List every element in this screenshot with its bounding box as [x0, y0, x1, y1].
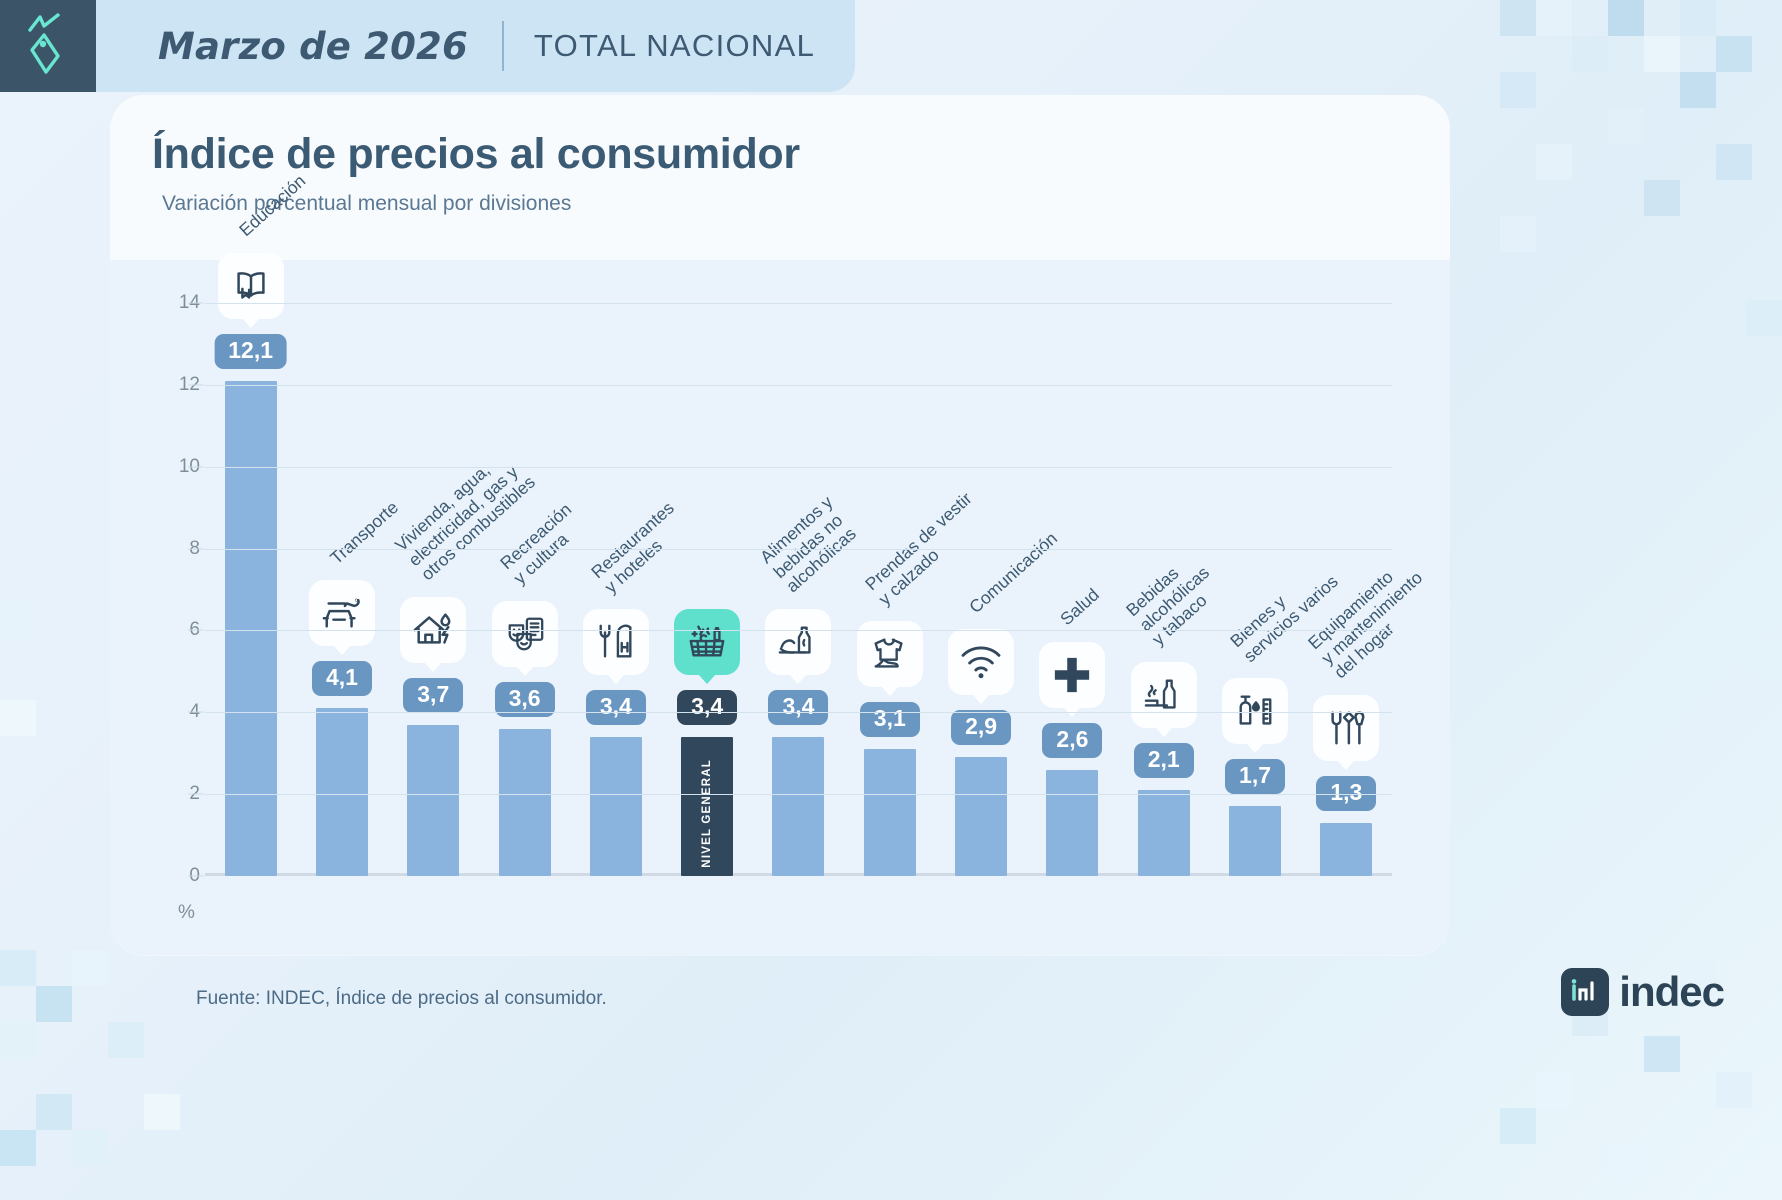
- bar-nivel-general[interactable]: NIVEL GENERAL: [681, 737, 733, 876]
- background-pixel: [1500, 1108, 1536, 1144]
- price-tag-icon: [24, 13, 72, 80]
- gridline: [205, 549, 1392, 550]
- background-pixel: [1644, 180, 1680, 216]
- y-axis-tick-mark: [188, 302, 204, 303]
- background-pixel: [72, 950, 108, 986]
- background-pixel: [1644, 36, 1680, 72]
- category-icon-card: [492, 601, 558, 667]
- header: Marzo de 2026 TOTAL NACIONAL: [0, 0, 855, 92]
- fork-hotel-icon: [595, 620, 637, 664]
- category-icon-card: [948, 629, 1014, 695]
- bar[interactable]: [955, 757, 1007, 876]
- bars-container: 12,1 Educación4,1 Transporte3,7 Vivienda…: [205, 262, 1392, 876]
- theater-masks-icon: [504, 613, 546, 655]
- bar-group[interactable]: 3,6 Recreacióny cultura: [479, 262, 570, 876]
- value-badge: 2,6: [1042, 723, 1102, 758]
- background-pixel: [1716, 36, 1752, 72]
- background-pixel: [108, 1022, 144, 1058]
- value-badge: 3,4: [586, 690, 646, 725]
- background-pixel: [1716, 144, 1752, 180]
- gridline: [205, 303, 1392, 304]
- y-axis-tick-mark: [188, 876, 204, 877]
- tshirt-shoe-icon: [868, 634, 912, 674]
- background-pixel: [1608, 1144, 1644, 1180]
- header-divider: [502, 21, 504, 71]
- category-label: Equipamientoy mantenimientodel hogar: [1305, 553, 1440, 683]
- bar-group[interactable]: 2,9 Comunicación: [935, 262, 1026, 876]
- category-icon-card: [218, 253, 284, 319]
- background-pixel: [0, 600, 36, 636]
- bar-group[interactable]: 1,7 Bienes yservicios varios: [1209, 262, 1300, 876]
- bar[interactable]: [407, 725, 459, 876]
- background-pixel: [36, 986, 72, 1022]
- bar[interactable]: [316, 708, 368, 876]
- axis-unit-label: %: [178, 902, 195, 924]
- value-badge: 3,7: [403, 678, 463, 713]
- bottle-cigarette-icon: [1142, 675, 1186, 715]
- category-icon-card: [1131, 662, 1197, 728]
- bar-group[interactable]: 3,1 Prendas de vestiry calzado: [844, 262, 935, 876]
- y-axis-tick-mark: [188, 384, 204, 385]
- header-logo-box: [0, 0, 96, 92]
- y-axis-tick-mark: [188, 466, 204, 467]
- gridline: [205, 712, 1392, 713]
- value-badge: 3,4: [677, 690, 737, 725]
- background-pixel: [1608, 0, 1644, 36]
- y-axis-tick-mark: [188, 630, 204, 631]
- header-scope: TOTAL NACIONAL: [534, 28, 815, 64]
- wifi-icon: [959, 644, 1003, 680]
- bar-group[interactable]: 3,4 Restaurantesy hoteles: [570, 262, 661, 876]
- background-pixel: [0, 700, 36, 736]
- header-bar: Marzo de 2026 TOTAL NACIONAL: [96, 0, 855, 92]
- background-pixel: [1500, 216, 1536, 252]
- page-title: Índice de precios al consumidor: [152, 130, 800, 179]
- plot-area: % 12,1 Educación4,1 Transporte3,7 Vivien…: [110, 262, 1450, 952]
- y-axis-tick-mark: [188, 548, 204, 549]
- open-book-icon: [230, 265, 272, 307]
- category-icon-card: [1039, 642, 1105, 708]
- background-pixel: [1644, 1036, 1680, 1072]
- gridline: [205, 385, 1392, 386]
- y-axis-tick-mark: [188, 712, 204, 713]
- category-label: Salud: [1057, 585, 1103, 630]
- bar[interactable]: [864, 749, 916, 876]
- gridline: [205, 794, 1392, 795]
- bar[interactable]: [772, 737, 824, 876]
- bar[interactable]: [590, 737, 642, 876]
- background-pixel: [1746, 640, 1782, 676]
- value-badge: 2,1: [1134, 743, 1194, 778]
- indec-wordmark: indec: [1619, 968, 1724, 1016]
- background-pixel: [1680, 72, 1716, 108]
- source-note: Fuente: INDEC, Índice de precios al cons…: [196, 988, 607, 1010]
- category-label-line: Salud: [1057, 585, 1103, 630]
- medical-cross-icon: [1052, 655, 1092, 695]
- background-pixel: [1500, 0, 1536, 36]
- category-icon-card: [765, 609, 831, 675]
- background-pixel: [144, 1094, 180, 1130]
- car-wrench-icon: [320, 592, 364, 634]
- value-badge: 3,1: [860, 702, 920, 737]
- background-pixel: [1680, 0, 1716, 36]
- bar-group[interactable]: 3,4 Alimentos ybebidas noalcohólicas: [753, 262, 844, 876]
- bar[interactable]: [1138, 790, 1190, 876]
- background-pixel: [36, 1094, 72, 1130]
- background-pixel: [1536, 0, 1572, 36]
- background-pixel: [1500, 72, 1536, 108]
- value-badge: 4,1: [312, 661, 372, 696]
- category-icon-card: [309, 580, 375, 646]
- bar-group[interactable]: 4,1 Transporte: [296, 262, 387, 876]
- shopping-basket-icon: [685, 621, 729, 663]
- bar[interactable]: [1320, 823, 1372, 876]
- bar-chart: % 12,1 Educación4,1 Transporte3,7 Vivien…: [110, 262, 1450, 952]
- category-icon-card: [674, 609, 740, 675]
- category-icon-card: [1313, 695, 1379, 761]
- bar[interactable]: [1229, 806, 1281, 876]
- background-pixel: [1608, 108, 1644, 144]
- background-pixel: [1716, 1072, 1752, 1108]
- bar[interactable]: [1046, 770, 1098, 876]
- background-pixel: [1536, 1072, 1572, 1108]
- background-pixel: [72, 1130, 108, 1166]
- bar-group[interactable]: 3,7 Vivienda, agua,electricidad, gas yot…: [388, 262, 479, 876]
- bar[interactable]: [225, 381, 277, 876]
- value-badge: 12,1: [214, 334, 287, 369]
- indec-mark-icon: [1561, 968, 1609, 1016]
- bar-vertical-label: NIVEL GENERAL: [701, 759, 713, 868]
- indec-logo: indec: [1561, 968, 1724, 1016]
- bar-group[interactable]: 1,3 Equipamientoy mantenimientodel hogar: [1301, 262, 1392, 876]
- header-date: Marzo de 2026: [158, 25, 468, 68]
- bar-group[interactable]: NIVEL GENERAL3,4: [662, 262, 753, 876]
- gridline: [205, 467, 1392, 468]
- background-pixel: [1572, 36, 1608, 72]
- category-icon-card: [583, 609, 649, 675]
- bar[interactable]: [499, 729, 551, 876]
- value-badge: 1,7: [1225, 759, 1285, 794]
- background-pixel: [1536, 144, 1572, 180]
- page-subtitle: Variación porcentual mensual por divisio…: [162, 192, 571, 216]
- gridline: [205, 630, 1392, 631]
- background-pixel: [0, 1022, 36, 1058]
- value-badge: 2,9: [951, 710, 1011, 745]
- background-pixel: [1746, 300, 1782, 336]
- bar-group[interactable]: 2,1 Bebidasalcohólicasy tabaco: [1118, 262, 1209, 876]
- bar-group[interactable]: 2,6 Salud: [1027, 262, 1118, 876]
- bar-group[interactable]: 12,1 Educación: [205, 262, 296, 876]
- food-bottle-icon: [776, 622, 820, 662]
- y-axis-tick-mark: [188, 794, 204, 795]
- background-pixel: [0, 950, 36, 986]
- background-pixel: [0, 1130, 36, 1166]
- value-badge: 3,4: [768, 690, 828, 725]
